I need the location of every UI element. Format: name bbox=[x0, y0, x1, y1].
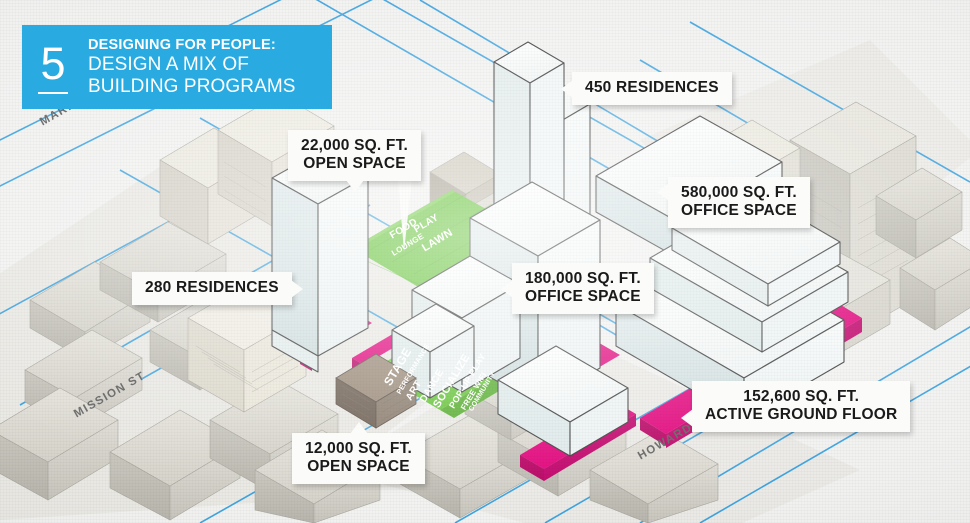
callout-line-2: OPEN SPACE bbox=[301, 155, 408, 173]
section-banner: 5 DESIGNING FOR PEOPLE: DESIGN A MIX OF … bbox=[22, 25, 332, 109]
callout-line-2: OFFICE SPACE bbox=[681, 202, 797, 220]
callout-line-1: 180,000 SQ. FT. bbox=[525, 270, 641, 288]
callout-tail bbox=[657, 183, 669, 201]
callout-tail bbox=[350, 422, 368, 434]
callout-tail bbox=[291, 280, 303, 298]
callout-residences-450: 450 RESIDENCES bbox=[572, 72, 732, 105]
callout-line-1: 22,000 SQ. FT. bbox=[301, 137, 408, 155]
section-number-block: 5 bbox=[22, 25, 84, 109]
callout-residences-280: 280 RESIDENCES bbox=[132, 272, 292, 305]
callout-line-2: ACTIVE GROUND FLOOR bbox=[705, 406, 897, 424]
section-title-line-1: DESIGN A MIX OF bbox=[88, 54, 324, 76]
section-eyebrow: DESIGNING FOR PEOPLE: bbox=[88, 37, 324, 54]
callout-office-180k: 180,000 SQ. FT. OFFICE SPACE bbox=[512, 263, 654, 314]
callout-open-space-22k: 22,000 SQ. FT. OPEN SPACE bbox=[288, 130, 421, 181]
callout-line-1: 12,000 SQ. FT. bbox=[305, 440, 412, 458]
section-title-block: DESIGNING FOR PEOPLE: DESIGN A MIX OF BU… bbox=[84, 25, 332, 109]
callout-open-space-12k: 12,000 SQ. FT. OPEN SPACE bbox=[292, 433, 425, 484]
callout-tail bbox=[346, 180, 364, 192]
section-title-line-2: BUILDING PROGRAMS bbox=[88, 76, 324, 98]
callout-line-1: 450 RESIDENCES bbox=[585, 79, 719, 97]
callout-office-580k: 580,000 SQ. FT. OFFICE SPACE bbox=[668, 177, 810, 228]
callout-tail bbox=[561, 80, 573, 98]
callout-line-2: OPEN SPACE bbox=[305, 458, 412, 476]
section-number: 5 bbox=[40, 45, 65, 83]
callout-tail bbox=[681, 409, 693, 427]
callout-line-2: OFFICE SPACE bbox=[525, 288, 641, 306]
callout-line-1: 280 RESIDENCES bbox=[145, 279, 279, 297]
callout-tail bbox=[501, 280, 513, 298]
section-number-rule bbox=[38, 92, 68, 94]
callout-active-ground-floor-152k: 152,600 SQ. FT. ACTIVE GROUND FLOOR bbox=[692, 381, 910, 432]
callout-line-1: 580,000 SQ. FT. bbox=[681, 184, 797, 202]
callout-line-1: 152,600 SQ. FT. bbox=[705, 388, 897, 406]
infographic-canvas: FOOD PLAY LOUNGE LAWN STAGE PERFORMANCE … bbox=[0, 0, 970, 523]
